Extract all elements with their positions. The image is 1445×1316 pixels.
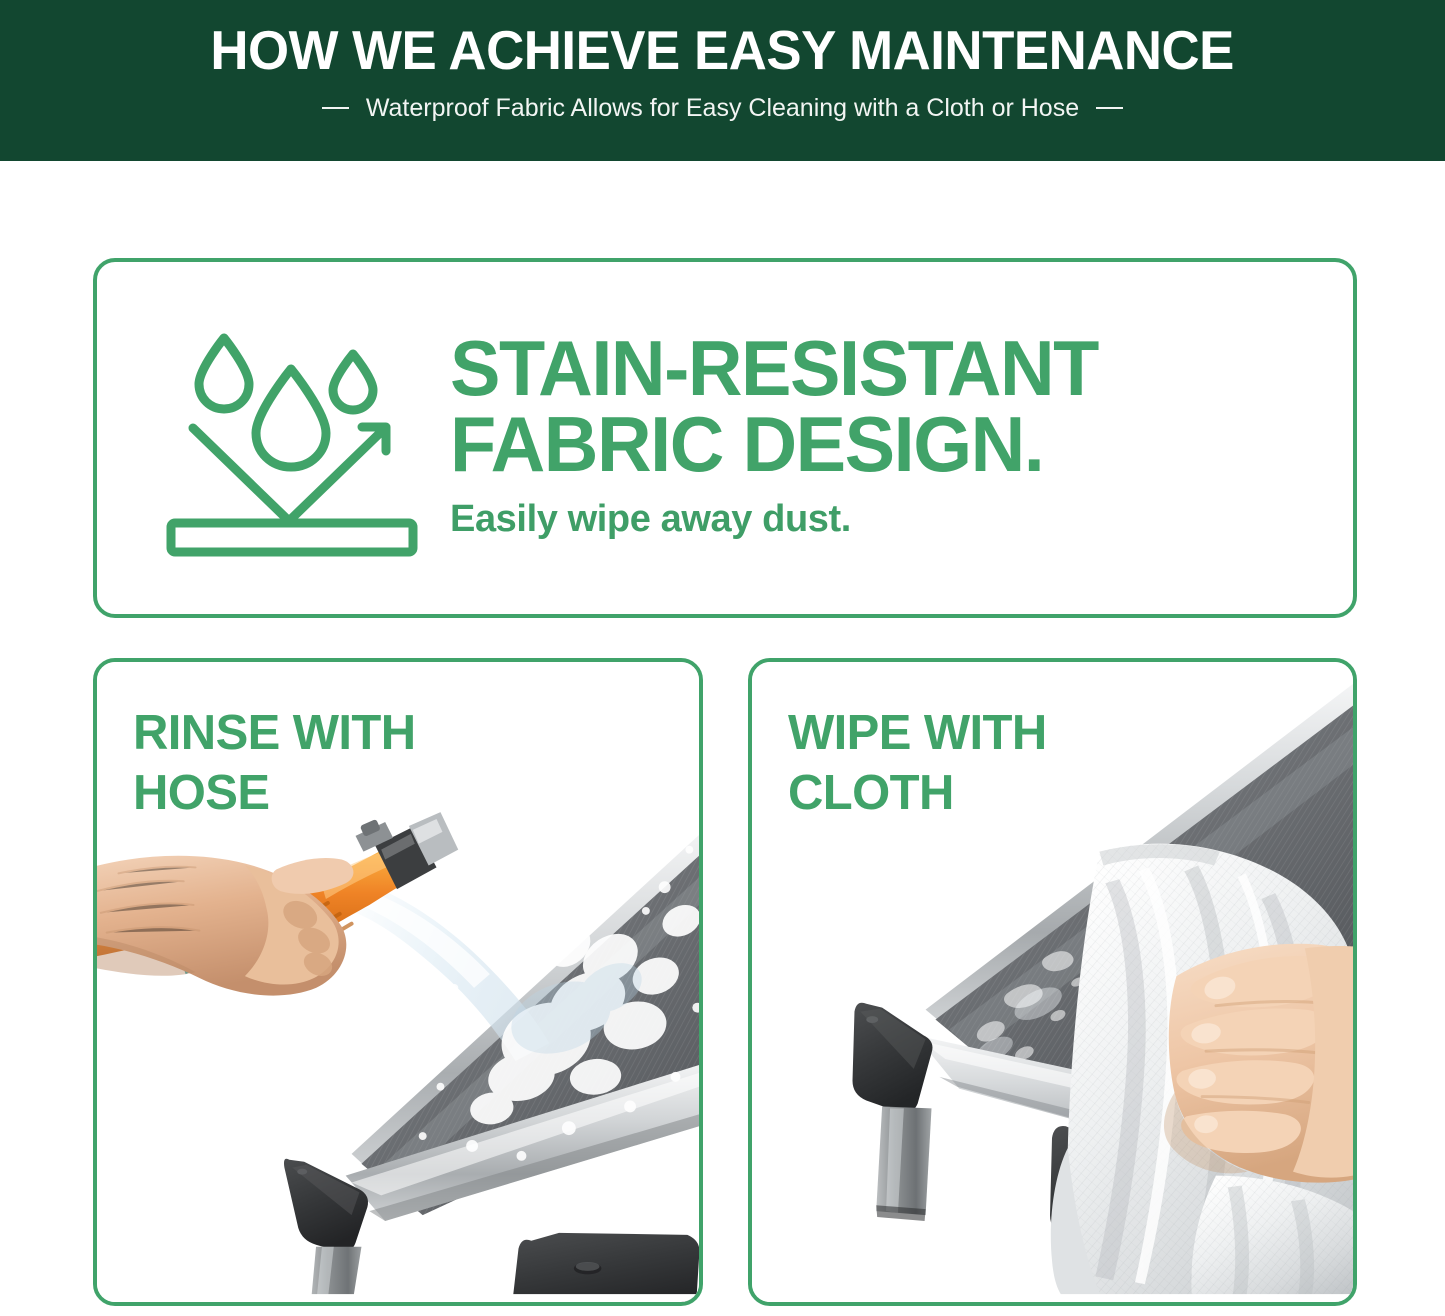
page-title: HOW WE ACHIEVE EASY MAINTENANCE — [211, 22, 1235, 80]
dash-left-icon — [322, 107, 349, 109]
dash-right-icon — [1096, 107, 1123, 109]
wipe-photo — [752, 662, 1353, 1302]
stain-resistant-card: STAIN-RESISTANT FABRIC DESIGN. Easily wi… — [93, 258, 1357, 618]
header-banner: HOW WE ACHIEVE EASY MAINTENANCE Waterpro… — [0, 0, 1445, 161]
rinse-photo — [97, 662, 699, 1302]
header-subtitle-row: Waterproof Fabric Allows for Easy Cleani… — [322, 94, 1123, 123]
header-subtitle: Waterproof Fabric Allows for Easy Cleani… — [366, 94, 1079, 123]
water-repellent-fabric-icon — [142, 314, 442, 562]
stain-heading: STAIN-RESISTANT FABRIC DESIGN. — [450, 331, 1326, 482]
wipe-with-cloth-card: WIPE WITH CLOTH — [748, 658, 1357, 1306]
stain-heading-line2: FABRIC DESIGN. — [450, 407, 1326, 483]
stain-text-block: STAIN-RESISTANT FABRIC DESIGN. Easily wi… — [442, 331, 1353, 545]
stain-heading-line1: STAIN-RESISTANT — [450, 331, 1326, 407]
rinse-with-hose-card: RINSE WITH HOSE — [93, 658, 703, 1306]
stain-subheading: Easily wipe away dust. — [450, 498, 1353, 541]
